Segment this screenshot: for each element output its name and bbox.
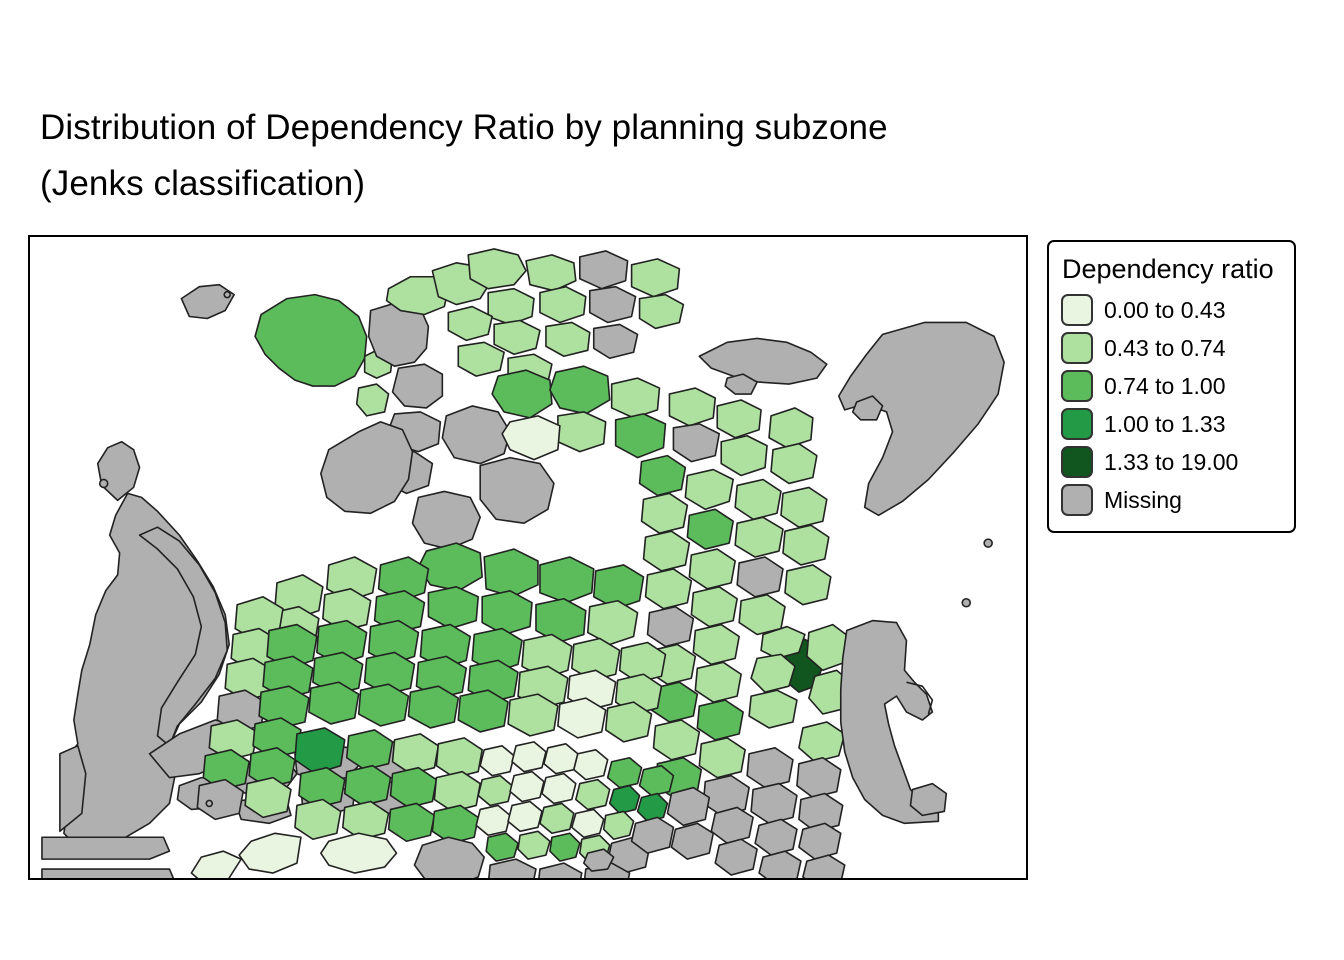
subzone-polygon xyxy=(540,557,594,603)
subzone-polygon xyxy=(689,549,735,589)
subzone-polygon xyxy=(488,289,534,325)
subzone-polygon xyxy=(695,662,741,702)
figure-root: Distribution of Dependency Ratio by plan… xyxy=(0,0,1344,960)
subzone-polygon xyxy=(673,424,719,462)
subzone-polygon xyxy=(711,807,753,843)
subzone-polygon xyxy=(755,819,797,855)
title-line-2: (Jenks classification) xyxy=(40,156,1140,212)
legend-item[interactable]: 1.00 to 1.33 xyxy=(1061,405,1282,443)
subzone-polygon xyxy=(735,517,783,557)
subzone-polygon xyxy=(751,654,795,692)
subzone-polygon xyxy=(492,370,552,418)
subzone-polygon xyxy=(608,758,642,788)
subzone-polygon xyxy=(721,436,767,476)
subzone-polygon xyxy=(781,487,827,527)
subzone-polygon xyxy=(448,307,492,341)
subzone-polygon xyxy=(783,525,829,565)
subzone-polygon xyxy=(518,831,550,859)
islet-dot xyxy=(100,479,108,487)
subzone-polygon xyxy=(799,722,845,762)
legend-label-2: 0.74 to 1.00 xyxy=(1104,373,1226,400)
subzone-polygon xyxy=(544,744,578,774)
subzone-polygon xyxy=(502,416,560,460)
subzone-polygon xyxy=(412,491,480,549)
page-title: Distribution of Dependency Ratio by plan… xyxy=(40,100,1140,212)
subzone-polygon xyxy=(759,851,801,878)
legend-swatch-1 xyxy=(1061,332,1093,364)
legend-item[interactable]: 1.33 to 19.00 xyxy=(1061,443,1282,481)
subzone-polygon xyxy=(181,285,234,319)
subzone-polygon xyxy=(739,595,785,635)
subzone-polygon xyxy=(717,400,761,438)
subzone-polygon xyxy=(646,569,692,609)
subzone-polygon xyxy=(653,720,699,760)
subzone-polygon xyxy=(512,742,546,772)
subzone-polygon xyxy=(735,479,781,519)
subzone-polygon xyxy=(42,837,169,859)
subzone-polygon xyxy=(480,458,554,524)
subzone-polygon xyxy=(648,607,694,647)
legend-label-1: 0.43 to 0.74 xyxy=(1104,335,1226,362)
subzone-polygon xyxy=(669,388,715,426)
subzone-polygon xyxy=(414,837,484,878)
subzone-polygon xyxy=(691,587,737,627)
subzone-polygon xyxy=(558,412,606,452)
choropleth-map xyxy=(30,237,1026,878)
subzone-polygon xyxy=(638,794,668,822)
subzone-polygon xyxy=(480,746,514,776)
subzone-polygon xyxy=(703,776,749,816)
subzone-polygon xyxy=(667,788,709,826)
legend-swatch-3 xyxy=(1061,408,1093,440)
subzone-polygon xyxy=(769,408,813,448)
subzone-polygon xyxy=(393,364,443,408)
subzone-polygon xyxy=(508,801,542,831)
subzone-polygon xyxy=(458,342,504,376)
legend-swatch-2 xyxy=(1061,370,1093,402)
subzone-polygon xyxy=(715,839,757,875)
legend-label-3: 1.00 to 1.33 xyxy=(1104,411,1226,438)
subzone-polygon xyxy=(632,259,680,297)
subzone-polygon xyxy=(546,322,590,356)
subzone-polygon xyxy=(255,295,367,386)
islet-dot xyxy=(962,599,970,607)
subzone-polygon xyxy=(468,249,526,289)
subzone-polygon xyxy=(594,324,638,358)
legend-item[interactable]: 0.74 to 1.00 xyxy=(1061,367,1282,405)
subzone-polygon xyxy=(785,565,831,605)
subzone-polygon xyxy=(580,251,628,289)
subzone-polygon xyxy=(526,255,576,291)
subzone-polygon xyxy=(590,287,636,323)
subzone-polygon xyxy=(771,444,817,484)
subzone-polygon xyxy=(540,287,586,323)
map-polygons xyxy=(42,249,1004,878)
subzone-polygon xyxy=(612,378,660,418)
legend-label-5: Missing xyxy=(1104,487,1182,514)
subzone-polygon xyxy=(644,531,690,571)
subzone-polygon xyxy=(910,784,946,816)
subzone-polygon xyxy=(574,750,608,780)
legend-swatch-4 xyxy=(1061,446,1093,478)
title-line-1: Distribution of Dependency Ratio by plan… xyxy=(40,100,1140,156)
subzone-polygon xyxy=(576,780,610,810)
subzone-polygon xyxy=(550,366,610,414)
subzone-polygon xyxy=(697,700,743,740)
map-panel xyxy=(28,235,1028,880)
subzone-polygon xyxy=(486,833,518,861)
legend-swatch-0 xyxy=(1061,294,1093,326)
subzone-polygon xyxy=(478,776,512,806)
subzone-polygon xyxy=(98,442,140,501)
subzone-polygon xyxy=(321,833,397,873)
subzone-polygon xyxy=(751,784,797,824)
subzone-polygon xyxy=(699,338,826,384)
subzone-polygon xyxy=(482,591,532,635)
subzone-polygon xyxy=(699,738,745,778)
subzone-polygon xyxy=(572,809,604,837)
legend-item[interactable]: Missing xyxy=(1061,481,1282,519)
legend-label-0: 0.00 to 0.43 xyxy=(1104,297,1226,324)
subzone-polygon xyxy=(432,805,478,843)
subzone-polygon xyxy=(640,456,686,496)
subzone-polygon xyxy=(428,587,478,629)
subzone-polygon xyxy=(604,811,634,839)
subzone-polygon xyxy=(737,557,783,597)
subzone-polygon xyxy=(687,509,733,549)
subzone-polygon xyxy=(540,803,574,833)
legend-item[interactable]: 0.00 to 0.43 xyxy=(1061,291,1282,329)
subzone-polygon xyxy=(389,803,435,841)
subzone-polygon xyxy=(747,748,793,788)
subzone-polygon xyxy=(616,414,666,458)
subzone-polygon xyxy=(494,320,540,354)
subzone-polygon xyxy=(476,805,510,835)
subzone-polygon xyxy=(442,406,510,464)
subzone-polygon xyxy=(588,601,638,645)
subzone-polygon xyxy=(510,772,544,802)
islet-dot xyxy=(206,800,212,806)
legend-label-4: 1.33 to 19.00 xyxy=(1104,449,1238,476)
subzone-polygon xyxy=(484,549,538,597)
subzone-polygon xyxy=(42,869,175,878)
legend: Dependency ratio 0.00 to 0.43 0.43 to 0.… xyxy=(1047,240,1296,533)
subzone-polygon xyxy=(803,855,845,878)
subzone-polygon xyxy=(640,295,684,329)
subzone-polygon xyxy=(693,625,739,665)
subzone-polygon xyxy=(239,833,301,873)
subzone-polygon xyxy=(488,859,536,878)
subzone-polygon xyxy=(550,833,580,861)
islet-dot xyxy=(224,292,230,298)
legend-swatch-5 xyxy=(1061,484,1093,516)
subzone-polygon xyxy=(610,786,640,814)
subzone-polygon xyxy=(542,774,576,804)
legend-title: Dependency ratio xyxy=(1062,252,1282,286)
legend-item[interactable]: 0.43 to 0.74 xyxy=(1061,329,1282,367)
subzone-polygon xyxy=(671,823,713,859)
subzone-polygon xyxy=(797,758,841,798)
islet-dot xyxy=(984,539,992,547)
subzone-polygon xyxy=(749,690,797,728)
subzone-polygon xyxy=(357,384,389,416)
subzone-polygon xyxy=(685,470,733,510)
subzone-polygon xyxy=(538,863,582,878)
subzone-polygon xyxy=(191,851,241,878)
subzone-polygon xyxy=(418,543,482,591)
subzone-polygon xyxy=(642,493,688,533)
subzone-polygon xyxy=(321,422,413,513)
subzone-polygon xyxy=(799,823,841,859)
